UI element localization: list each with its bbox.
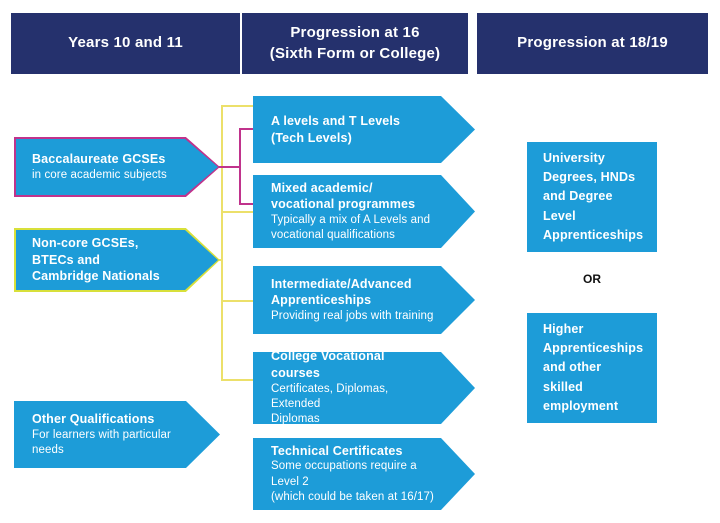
arrow-other-qualifications-title: Other Qualifications (32, 411, 180, 428)
arrow-intermediate-advanced-apprenticeships-sub1: Providing real jobs with training (271, 309, 435, 324)
arrow-technical-certificates-line1: Technical Certificates (271, 443, 435, 460)
header-progression-18-19: Progression at 18/19 (477, 13, 708, 74)
arrow-a-levels-t-levels-line2: (Tech Levels) (271, 130, 435, 147)
box-higher-apprenticeships-line1: Higher (543, 320, 641, 339)
arrow-mixed-academic-vocational-sub1: Typically a mix of A Levels and (271, 213, 435, 228)
arrow-college-vocational-courses-sub2: Diplomas (271, 412, 435, 427)
arrow-intermediate-advanced-apprenticeships-line1: Intermediate/Advanced (271, 276, 435, 293)
arrow-technical-certificates-sub1: Some occupations require a Level 2 (271, 459, 435, 490)
arrow-college-vocational-courses-sub1: Certificates, Diplomas, Extended (271, 382, 435, 413)
arrow-other-qualifications-subtitle-line1: For learners with particular (32, 428, 180, 443)
arrow-other-qualifications-subtitle-line2: needs (32, 443, 180, 458)
box-higher-apprenticeships-line2: Apprenticeships (543, 339, 641, 358)
arrow-other-qualifications[interactable]: Other Qualifications For learners with p… (14, 401, 220, 468)
connector-pink-branch-1 (239, 128, 255, 130)
arrow-baccalaureate-gcses-title: Baccalaureate GCSEs (32, 151, 178, 168)
arrow-technical-certificates[interactable]: Technical Certificates Some occupations … (253, 438, 475, 510)
box-university-degrees-line1: University (543, 149, 641, 168)
or-separator: OR (527, 272, 657, 286)
connector-pink-trunk (239, 128, 241, 205)
box-higher-apprenticeships-line3: and other skilled (543, 358, 641, 397)
arrow-baccalaureate-gcses-subtitle: in core academic subjects (32, 168, 178, 183)
box-university-degrees-line3: and Degree Level (543, 187, 641, 226)
connector-yellow-branch-2 (221, 211, 254, 213)
connector-yellow-trunk (221, 105, 223, 379)
arrow-non-core-gcses-title-line3: Cambridge Nationals (32, 268, 178, 285)
header-years-10-11-label: Years 10 and 11 (68, 33, 183, 53)
arrow-college-vocational-courses[interactable]: College Vocational courses Certificates,… (253, 352, 475, 424)
connector-pink-branch-2 (239, 203, 255, 205)
box-university-degrees-line4: Apprenticeships (543, 226, 641, 245)
progression-diagram: Years 10 and 11 Progression at 16 (Sixth… (0, 0, 720, 523)
connector-yellow-branch-1 (221, 105, 254, 107)
arrow-technical-certificates-sub2: (which could be taken at 16/17) (271, 490, 435, 505)
box-university-degrees[interactable]: University Degrees, HNDs and Degree Leve… (527, 142, 657, 252)
header-progression-18-19-label: Progression at 18/19 (517, 33, 668, 53)
header-progression-16-line2: (Sixth Form or College) (270, 44, 440, 64)
arrow-mixed-academic-vocational-line2: vocational programmes (271, 196, 435, 213)
header-years-10-11: Years 10 and 11 (11, 13, 240, 74)
arrow-a-levels-t-levels[interactable]: A levels and T Levels (Tech Levels) (253, 96, 475, 163)
arrow-non-core-gcses-title-line1: Non-core GCSEs, (32, 235, 178, 252)
arrow-non-core-gcses-title-line2: BTECs and (32, 252, 178, 269)
arrow-a-levels-t-levels-line1: A levels and T Levels (271, 113, 435, 130)
box-higher-apprenticeships-line4: employment (543, 397, 641, 416)
box-university-degrees-line2: Degrees, HNDs (543, 168, 641, 187)
arrow-intermediate-advanced-apprenticeships[interactable]: Intermediate/Advanced Apprenticeships Pr… (253, 266, 475, 334)
arrow-mixed-academic-vocational-sub2: vocational qualifications (271, 228, 435, 243)
arrow-mixed-academic-vocational-line1: Mixed academic/ (271, 180, 435, 197)
box-higher-apprenticeships[interactable]: Higher Apprenticeships and other skilled… (527, 313, 657, 423)
arrow-non-core-gcses[interactable]: Non-core GCSEs, BTECs and Cambridge Nati… (14, 228, 220, 292)
arrow-college-vocational-courses-line1: College Vocational courses (271, 348, 435, 381)
header-progression-16-line1: Progression at 16 (270, 23, 440, 43)
header-progression-16: Progression at 16 (Sixth Form or College… (242, 13, 468, 74)
arrow-baccalaureate-gcses[interactable]: Baccalaureate GCSEs in core academic sub… (14, 137, 220, 197)
arrow-mixed-academic-vocational[interactable]: Mixed academic/ vocational programmes Ty… (253, 175, 475, 248)
connector-yellow-branch-3 (221, 300, 254, 302)
arrow-intermediate-advanced-apprenticeships-line2: Apprenticeships (271, 292, 435, 309)
connector-yellow-branch-4 (221, 379, 254, 381)
